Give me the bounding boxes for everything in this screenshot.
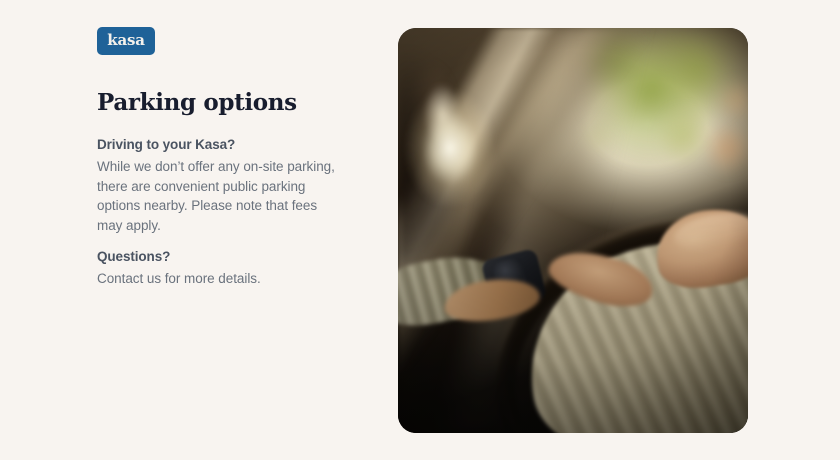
section-parking-body: While we don’t offer any on-site parking… bbox=[97, 157, 342, 235]
section-parking-heading: Driving to your Kasa? bbox=[97, 135, 342, 155]
section-parking: Driving to your Kasa? While we don’t off… bbox=[97, 135, 342, 235]
content-column: kasa Parking options Driving to your Kas… bbox=[97, 27, 347, 55]
section-questions-body: Contact us for more details. bbox=[97, 269, 342, 289]
slide-canvas: kasa Parking options Driving to your Kas… bbox=[0, 0, 840, 460]
photo-frame bbox=[398, 28, 748, 433]
section-questions: Questions? Contact us for more details. bbox=[97, 247, 342, 289]
driving-photo bbox=[398, 28, 748, 433]
photo-layer-warm-tone bbox=[398, 28, 748, 433]
kasa-logo-text: kasa bbox=[107, 33, 144, 49]
kasa-logo-badge: kasa bbox=[97, 27, 155, 55]
page-title: Parking options bbox=[97, 89, 297, 116]
section-questions-heading: Questions? bbox=[97, 247, 342, 267]
